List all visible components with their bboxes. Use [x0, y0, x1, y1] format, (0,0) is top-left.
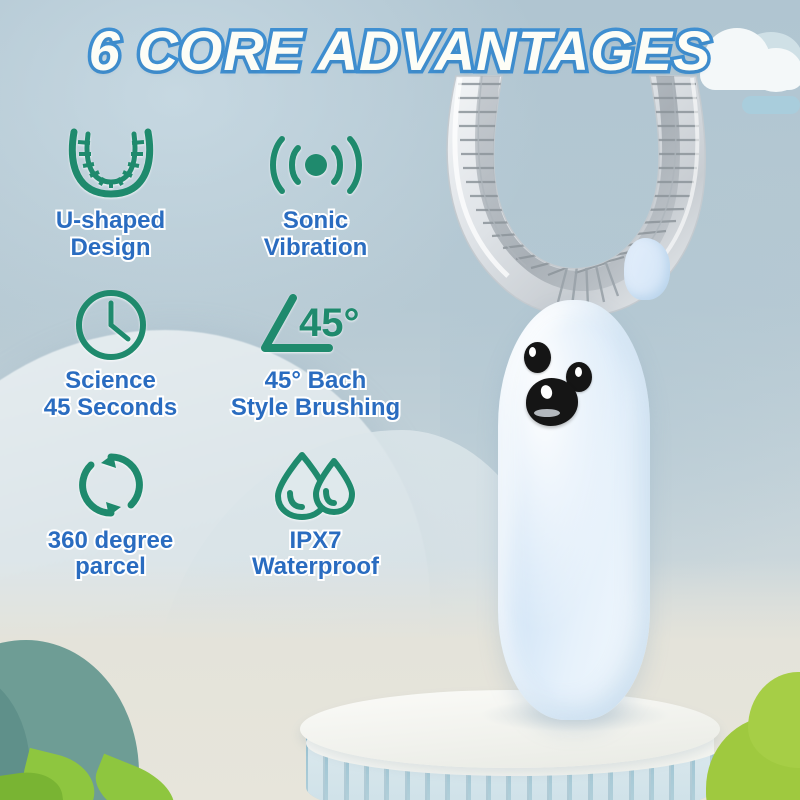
rotate-360-icon [8, 448, 213, 522]
feature-45-bach-style-brushing: 45° 45° Bach Style Brushing [213, 288, 418, 448]
angle-icon-text: 45° [299, 301, 360, 345]
sonic-wave-icon [213, 128, 418, 202]
feature-row: Science 45 Seconds 45° 45° Bach Style Br… [8, 288, 418, 448]
feature-360-degree-parcel: 360 degree parcel [8, 448, 213, 608]
bear-eye-left [524, 342, 551, 373]
bear-ear [624, 238, 670, 300]
feature-row: U-shaped Design Sonic Vibration [8, 128, 418, 288]
feature-sonic-vibration: Sonic Vibration [213, 128, 418, 288]
bear-mouth [534, 409, 560, 417]
angle-45-icon: 45° [213, 288, 418, 362]
feature-label: Sonic Vibration [213, 208, 418, 262]
clock-icon [8, 288, 213, 362]
feature-u-shaped-design: U-shaped Design [8, 128, 213, 288]
water-drops-icon [213, 448, 418, 522]
cloud-streak [742, 96, 800, 114]
page-title: 6 CORE ADVANTAGES [0, 18, 800, 83]
product-infographic-poster: 6 CORE ADVANTAGES [0, 0, 800, 800]
feature-label: Science 45 Seconds [8, 368, 213, 422]
product-image [410, 70, 740, 730]
feature-label: 45° Bach Style Brushing [213, 368, 418, 422]
bear-eye-right-highlight [575, 367, 582, 377]
feature-row: 360 degree parcel IPX7 Waterproof [8, 448, 418, 608]
bear-eye-left-highlight [529, 347, 536, 357]
u-shape-icon [8, 128, 213, 202]
feature-label: 360 degree parcel [8, 528, 213, 582]
feature-ipx7-waterproof: IPX7 Waterproof [213, 448, 418, 608]
feature-label: IPX7 Waterproof [213, 528, 418, 582]
feature-list: U-shaped Design Sonic Vibration [8, 128, 418, 607]
feature-science-45-seconds: Science 45 Seconds [8, 288, 213, 448]
feature-label: U-shaped Design [8, 208, 213, 262]
bear-nose [526, 378, 578, 426]
bear-handle [498, 300, 650, 720]
